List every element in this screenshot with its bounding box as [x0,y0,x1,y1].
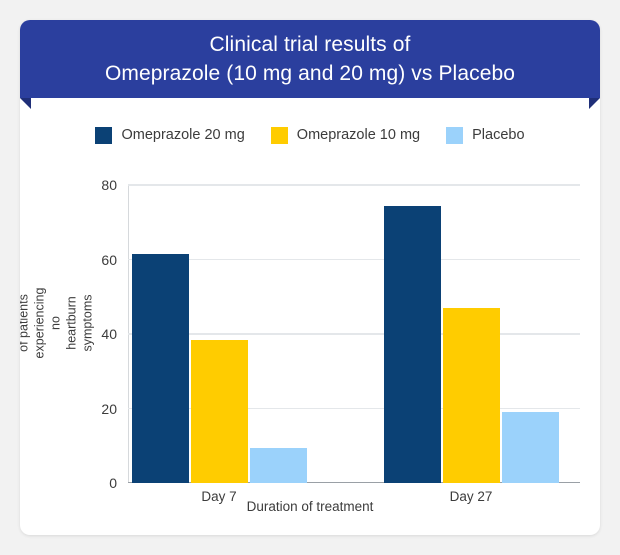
y-axis-label: Percentage of patients experiencing no h… [34,173,60,473]
page-title: Clinical trial results of Omeprazole (10… [105,30,515,88]
y-axis-tick-label: 40 [101,326,117,342]
banner-notch-left [20,98,31,109]
bar-omeprazole-20-mg-day-7[interactable] [132,254,189,483]
legend-label: Omeprazole 10 mg [297,127,420,143]
bar-omeprazole-10-mg-day-27[interactable] [443,308,500,483]
chart-title-banner: Clinical trial results of Omeprazole (10… [20,20,600,98]
y-axis-tick-label: 60 [101,252,117,268]
banner-notch-right [589,98,600,109]
y-axis-tick-label: 0 [109,475,117,491]
y-axis-label-text: Percentage of patients experiencing no h… [20,288,95,359]
bar-omeprazole-20-mg-day-27[interactable] [384,206,441,484]
bar-placebo-day-7[interactable] [250,448,307,483]
y-axis-tick-label: 80 [101,177,117,193]
bar-omeprazole-10-mg-day-7[interactable] [191,340,248,483]
legend-swatch-icon [271,127,288,144]
legend-swatch-icon [446,127,463,144]
legend-label: Omeprazole 20 mg [121,127,244,143]
y-axis-tick-label: 20 [101,401,117,417]
plot-wrapper: Percentage of patients experiencing no h… [20,153,600,535]
legend-swatch-icon [95,127,112,144]
x-axis-label: Duration of treatment [20,499,600,514]
legend-label: Placebo [472,127,524,143]
bar-group [128,185,580,483]
legend-item-omeprazole-20mg[interactable]: Omeprazole 20 mg [95,127,244,144]
legend-item-placebo[interactable]: Placebo [446,127,524,144]
bar-placebo-day-27[interactable] [502,412,559,483]
chart-legend: Omeprazole 20 mg Omeprazole 10 mg Placeb… [20,117,600,153]
chart-card: Clinical trial results of Omeprazole (10… [20,20,600,535]
plot-area: 020406080 Day 7Day 27 [128,185,580,483]
legend-item-omeprazole-10mg[interactable]: Omeprazole 10 mg [271,127,420,144]
